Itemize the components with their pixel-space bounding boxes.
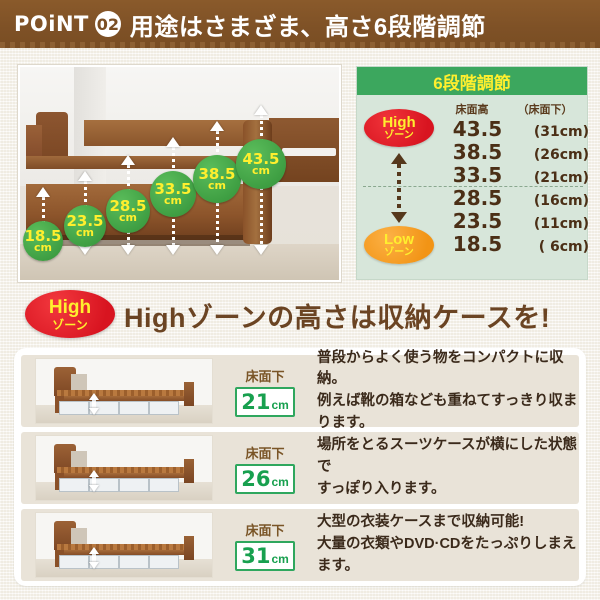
storage-box xyxy=(149,478,179,492)
callout-arrow-up-icon xyxy=(210,121,224,131)
point-label: POiNT xyxy=(14,12,89,36)
arrow-line xyxy=(92,554,96,562)
table-body: High ゾーン Low ゾーン 床面高 （床面下） 43.5(31cm)38.… xyxy=(357,95,587,280)
storage-box xyxy=(119,555,149,569)
column-header-floor-height: 床面高 xyxy=(441,101,503,117)
measurement-group: 床面下26cm xyxy=(227,443,303,494)
callout-arrow-up-icon xyxy=(121,155,135,165)
callout-unit: cm xyxy=(208,181,226,191)
zone-high-jp: ゾーン xyxy=(384,131,414,141)
cell-under-floor: (11cm) xyxy=(502,216,589,232)
zone-low-jp: ゾーン xyxy=(384,248,414,258)
description-line-2: すっぽり入ります。 xyxy=(317,479,579,501)
measurement-value-box: 26cm xyxy=(235,464,295,494)
cell-under-floor: ( 6cm) xyxy=(502,239,589,255)
measurement-unit: cm xyxy=(271,552,288,566)
callout-arrow-down-icon xyxy=(166,245,180,255)
cell-under-floor: (26cm) xyxy=(502,147,589,163)
description-line-1: 場所をとるスーツケースが横にした状態で xyxy=(317,435,579,479)
storage-description: 大型の衣装ケースまで収納可能!大量の衣類やDVD·CDをたっぷりしまえます。 xyxy=(317,512,579,577)
measurement-label: 床面下 xyxy=(227,443,303,462)
photo-footboard xyxy=(184,536,195,560)
measurement-unit: cm xyxy=(271,398,288,412)
callout-arrow-down-icon xyxy=(254,245,268,255)
high-zone-badge: High ゾーン xyxy=(25,290,115,338)
description-line-2: 大量の衣類やDVD·CDをたっぷりしまえます。 xyxy=(317,534,579,578)
table-column-headers: 床面高 （床面下） xyxy=(441,101,587,117)
callout-unit: cm xyxy=(34,243,52,253)
table-row: 23.5(11cm) xyxy=(441,209,589,232)
column-header-under-floor: （床面下） xyxy=(503,101,587,117)
storage-box xyxy=(59,555,89,569)
cell-under-floor: (21cm) xyxy=(502,170,589,186)
point-number-badge: 02 xyxy=(95,11,121,37)
arrow-down-icon xyxy=(89,562,99,569)
zone-badge-high: High ゾーン xyxy=(364,109,434,147)
storage-box xyxy=(149,555,179,569)
table-row: 33.5(21cm) xyxy=(441,163,589,186)
storage-box xyxy=(59,401,89,415)
table-heading: 6段階調節 xyxy=(357,67,587,95)
high-zone-badge-jp: ゾーン xyxy=(52,319,87,331)
callout-unit: cm xyxy=(119,213,137,223)
callout-arrow-up-icon xyxy=(78,171,92,181)
height-callout-bubble: 18.5cm xyxy=(23,221,63,261)
arrow-up-icon xyxy=(391,153,407,164)
callout-arrow-up-icon xyxy=(36,187,50,197)
page-title: 用途はさまざま、高さ6段階調節 xyxy=(130,7,486,42)
bed-height-photo: 18.5cm23.5cm28.5cm33.5cm38.5cm43.5cm xyxy=(17,64,342,283)
zone-high-en: High xyxy=(382,115,415,130)
storage-row: 床面下21cm普段からよく使う物をコンパクトに収納。例えば靴の箱なども重ねてすっ… xyxy=(21,355,579,427)
header-banner: POiNT 02 用途はさまざま、高さ6段階調節 xyxy=(0,0,600,48)
photo-side-rail xyxy=(57,473,191,477)
callout-arrow-down-icon xyxy=(210,245,224,255)
measurement-label: 床面下 xyxy=(227,366,303,385)
callout-arrow-down-icon xyxy=(121,245,135,255)
measurement-group: 床面下31cm xyxy=(227,520,303,571)
cell-floor-height: 43.5 xyxy=(441,117,502,141)
high-zone-badge-en: High xyxy=(49,298,91,317)
zone-badge-low: Low ゾーン xyxy=(364,226,434,264)
photo-height-arrow-icon xyxy=(89,470,100,492)
storage-box xyxy=(119,478,149,492)
measurement-value: 21 xyxy=(241,390,270,414)
measurement-unit: cm xyxy=(271,475,288,489)
description-line-1: 普段からよく使う物をコンパクトに収納。 xyxy=(317,348,579,392)
measurement-label: 床面下 xyxy=(227,520,303,539)
height-callout-bubble: 38.5cm xyxy=(193,155,241,203)
description-line-1: 大型の衣装ケースまで収納可能! xyxy=(317,512,579,534)
table-row: 28.5(16cm) xyxy=(441,186,589,209)
photo-height-arrow-icon xyxy=(89,393,100,415)
storage-box xyxy=(119,401,149,415)
table-row: 18.5( 6cm) xyxy=(441,232,589,255)
table-rows: 43.5(31cm)38.5(26cm)33.5(21cm)28.5(16cm)… xyxy=(441,117,589,255)
high-zone-heading-bar: High ゾーン Highゾーンの高さは収納ケースを! xyxy=(0,288,600,340)
cell-floor-height: 23.5 xyxy=(441,209,502,233)
callout-unit: cm xyxy=(76,228,94,238)
measurement-value: 31 xyxy=(241,544,270,568)
storage-box xyxy=(149,401,179,415)
photo-height-arrow-icon xyxy=(89,547,100,569)
arrow-down-icon xyxy=(391,212,407,223)
cell-floor-height: 33.5 xyxy=(441,163,502,187)
cell-under-floor: (16cm) xyxy=(502,193,589,209)
photo-footboard-slot xyxy=(282,148,336,157)
table-row: 38.5(26cm) xyxy=(441,140,589,163)
storage-box xyxy=(59,478,89,492)
callout-unit: cm xyxy=(252,166,270,176)
photo-side-rail xyxy=(57,550,191,554)
storage-bed-photo xyxy=(35,435,213,501)
measurement-value: 26 xyxy=(241,467,270,491)
photo-footboard xyxy=(184,382,195,406)
height-adjustment-table: 6段階調節 High ゾーン Low ゾーン 床面高 （床面下） 43.5(31… xyxy=(356,66,588,280)
arrow-up-icon xyxy=(89,547,99,554)
height-callout-bubble: 23.5cm xyxy=(64,205,106,247)
storage-row: 床面下26cm場所をとるスーツケースが横にした状態ですっぽり入ります。 xyxy=(21,432,579,504)
storage-row-list: 床面下21cm普段からよく使う物をコンパクトに収納。例えば靴の箱なども重ねてすっ… xyxy=(21,355,579,581)
storage-bed-photo xyxy=(35,512,213,578)
arrow-up-icon xyxy=(89,470,99,477)
photo-footboard xyxy=(184,459,195,483)
callout-arrow-up-icon xyxy=(254,105,268,115)
storage-card: 床面下21cm普段からよく使う物をコンパクトに収納。例えば靴の箱なども重ねてすっ… xyxy=(14,348,586,586)
storage-bed-photo xyxy=(35,358,213,424)
measurement-group: 床面下21cm xyxy=(227,366,303,417)
height-callout-bubble: 33.5cm xyxy=(150,171,196,217)
description-line-2: 例えば靴の箱なども重ねてすっきり収まります。 xyxy=(317,391,579,435)
photo-scene: 18.5cm23.5cm28.5cm33.5cm38.5cm43.5cm xyxy=(20,67,339,280)
header-dotted-divider xyxy=(0,42,600,48)
measurement-value-box: 21cm xyxy=(235,387,295,417)
height-callout-bubble: 43.5cm xyxy=(236,139,286,189)
cell-floor-height: 18.5 xyxy=(441,232,502,256)
arrow-down-icon xyxy=(89,408,99,415)
cell-floor-height: 28.5 xyxy=(441,186,502,210)
high-zone-title: Highゾーンの高さは収納ケースを! xyxy=(124,296,550,335)
callout-unit: cm xyxy=(164,196,182,206)
storage-row: 床面下31cm大型の衣装ケースまで収納可能!大量の衣類やDVD·CDをたっぷりし… xyxy=(21,509,579,581)
arrow-up-icon xyxy=(89,393,99,400)
arrow-line xyxy=(92,477,96,485)
storage-description: 普段からよく使う物をコンパクトに収納。例えば靴の箱なども重ねてすっきり収まります… xyxy=(317,348,579,435)
arrow-line xyxy=(92,400,96,408)
height-callout-bubble: 28.5cm xyxy=(106,189,150,233)
infographic-page: POiNT 02 用途はさまざま、高さ6段階調節 18.5cm23.5cm28.… xyxy=(0,0,600,600)
storage-description: 場所をとるスーツケースが横にした状態ですっぽり入ります。 xyxy=(317,435,579,500)
measurement-value-box: 31cm xyxy=(235,541,295,571)
table-row: 43.5(31cm) xyxy=(441,117,589,140)
cell-under-floor: (31cm) xyxy=(502,124,589,140)
cell-floor-height: 38.5 xyxy=(441,140,502,164)
callout-arrow-up-icon xyxy=(166,137,180,147)
photo-side-rail xyxy=(57,396,191,400)
arrow-dotted-line xyxy=(397,164,401,212)
zone-range-arrow-icon xyxy=(389,153,409,223)
arrow-down-icon xyxy=(89,485,99,492)
zone-low-en: Low xyxy=(384,232,414,247)
